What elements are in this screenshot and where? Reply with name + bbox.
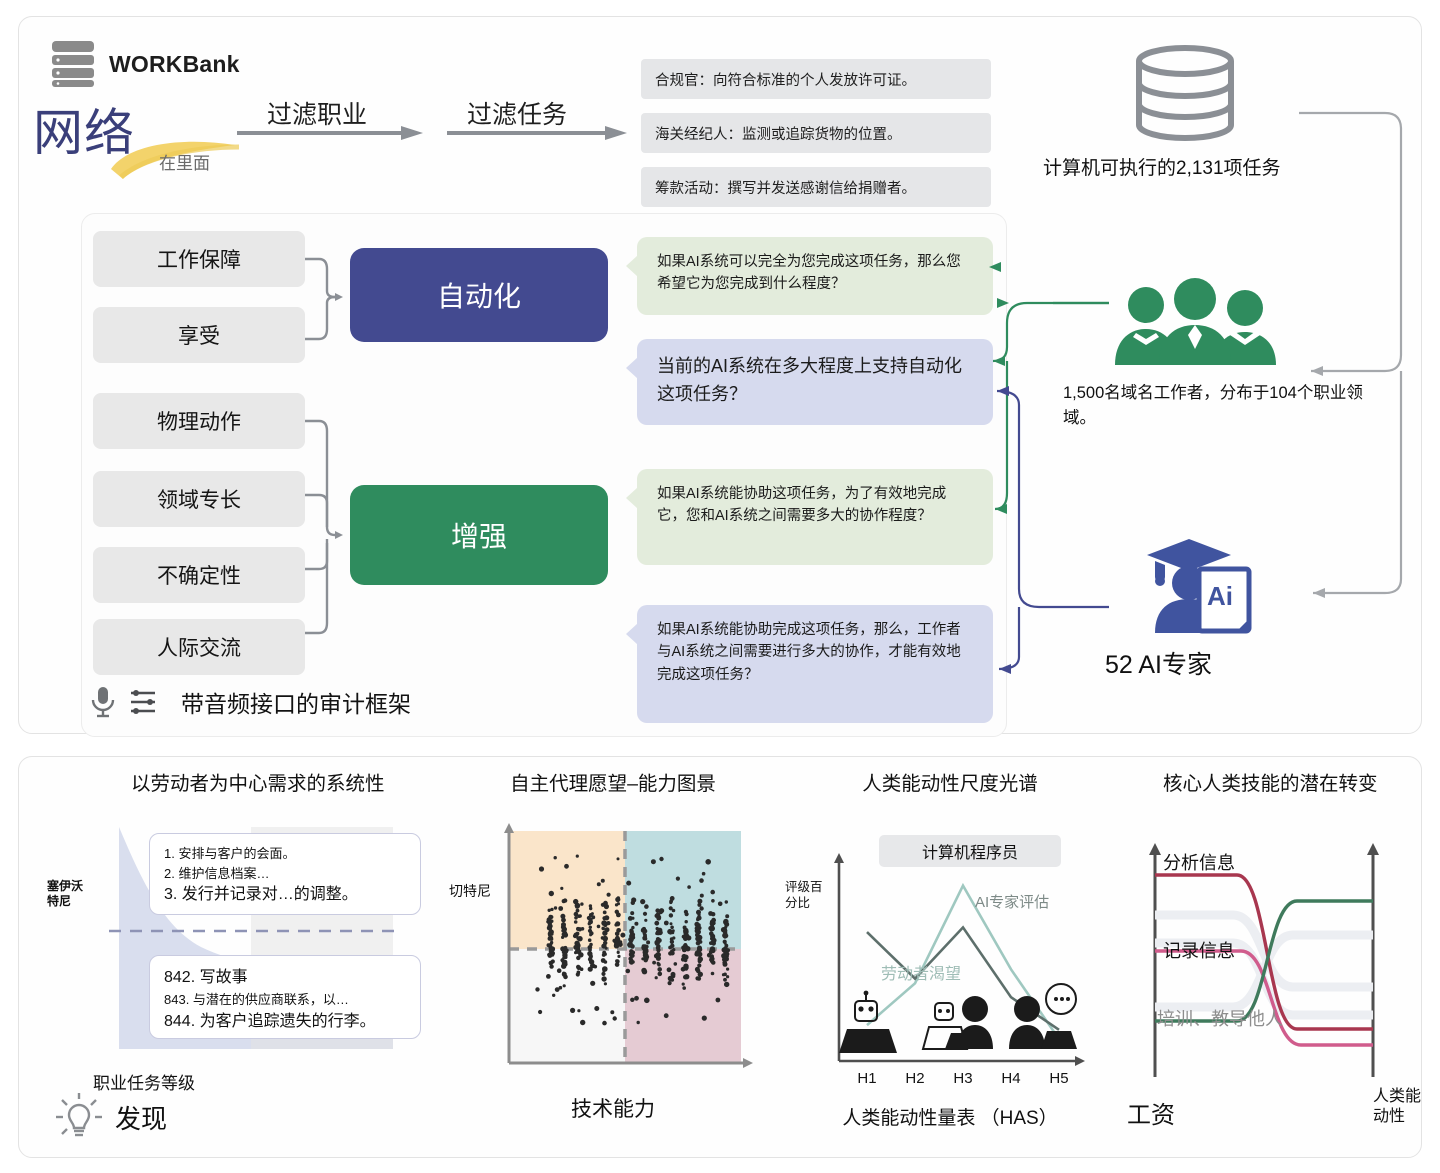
app-title: WORKBank [109,51,240,78]
task-line: 842. 写故事 [164,966,406,990]
has-line-chart: H1 H2 H3 H4 H5 AI专家评估 劳动者渴望 [823,853,1101,1095]
chart-title: 人类能动性尺度光谱 [785,771,1115,798]
sliders-icon [129,687,159,717]
chart-human-agency-scale: 人类能动性尺度光谱 评级百分比 计算机程序员 [785,757,1115,1151]
database-cylinder-icon [1131,45,1239,143]
task-list-bottom-card: 842. 写故事 843. 与潜在的供应商联系，以… 844. 为客户追踪遗失的… [149,955,421,1039]
category-box-augmentation: 增强 [350,485,608,585]
audio-framework-label: 带音频接口的审计框架 [181,685,411,719]
chart-title: 以劳动者为中心需求的系统性 [41,771,441,798]
x-tick: H2 [905,1070,924,1087]
scatter-plot [489,823,757,1081]
x-tick: H5 [1049,1070,1068,1087]
framework-panel: WORKBank 网络 在里面 过滤职业 过滤任务 合规官：向符合标准的个人发放… [18,16,1422,734]
x-tick: H4 [1001,1070,1020,1087]
chart-ylabel: 人类能动性 [1373,1087,1435,1127]
chart-ylabel: 切特尼 [449,883,493,901]
task-list-top-card: 1. 安排与客户的会面。 2. 维护信息档案… 3. 发行并记录对…的调整。 [149,833,421,915]
series-label-ai-expert: AI专家评估 [975,894,1049,911]
x-tick: H3 [953,1070,972,1087]
task-example-chip: 筹款活动：撰写并发送感谢信给捐赠者。 [641,167,991,207]
chart-systematic-desire: 以劳动者为中心需求的系统性 塞伊沃特尼 1. 安排与客户的会面。 2. 维护信息… [41,757,441,1151]
dimension-chip-expertise: 领域专长 [93,471,305,527]
ai-graduate-icon: Ai [1137,533,1255,643]
audio-framework-row: 带音频接口的审计框架 [89,685,411,719]
skill-label-record: 记录信息 [1163,937,1235,963]
dimension-chip-job-security: 工作保障 [93,231,305,287]
question-bubble-automation-capability: 当前的AI系统在多大程度上支持自动化这项任务？ [637,339,993,425]
task-example-chip: 海关经纪人：监测或追踪货物的位置。 [641,113,991,153]
microphone-icon [89,685,117,719]
lightbulb-icon [53,1091,105,1143]
dimension-chip-uncertainty: 不确定性 [93,547,305,603]
chart-xlabel: 工资 [1127,1095,1175,1130]
skill-label-analyze: 分析信息 [1163,849,1235,875]
task-line: 2. 维护信息档案… [164,864,406,884]
findings-panel: 以劳动者为中心需求的系统性 塞伊沃特尼 1. 安排与客户的会面。 2. 维护信息… [18,756,1422,1158]
three-workers-icon [1109,279,1281,367]
chart-skill-shift: 核心人类技能的潜在转变 分析信息 [1117,757,1440,1151]
dimension-chip-interpersonal: 人际交流 [93,619,305,675]
feedback-loop-connector [1289,97,1419,597]
findings-row: 发现 [53,1091,167,1143]
dimension-chip-physical: 物理动作 [93,393,305,449]
chart-ylabel: 塞伊沃特尼 [47,879,93,909]
flow-arrow-2 [447,125,627,141]
task-line: 1. 安排与客户的会面。 [164,844,406,864]
chart-title: 核心人类技能的潜在转变 [1117,771,1440,798]
question-bubble-augmentation-capability: 如果AI系统能协助完成这项任务，那么，工作者与AI系统之间需要进行多大的协作，才… [637,605,993,723]
chart-desire-capability: 自主代理愿望–能力图景 切特尼 技术能力 [443,757,783,1151]
chart-title: 自主代理愿望–能力图景 [443,771,783,798]
skill-shift-curves [1141,839,1403,1089]
chart-xlabel: 人类能动性量表 （HAS） [785,1103,1115,1130]
svg-text:Ai: Ai [1207,581,1233,611]
task-line: 844. 为客户追踪遗失的行李。 [164,1010,406,1034]
question-bubble-automation-desire: 如果AI系统可以完全为您完成这项任务，那么您希望它为您完成到什么程度？ [637,237,993,315]
task-line: 3. 发行并记录对…的调整。 [164,883,406,907]
skill-label-train: 培训、教导他人 [1157,1005,1283,1031]
inside-word: 在里面 [159,149,210,174]
bubble-to-source-connectors [993,257,1113,677]
flow-arrow-1 [237,125,423,141]
dimension-chip-enjoyment: 享受 [93,307,305,363]
task-example-chip: 合规官：向符合标准的个人发放许可证。 [641,59,991,99]
experts-caption: 52 AI专家 [1105,645,1212,681]
findings-label: 发现 [115,1099,167,1136]
infographic-page: WORKBank 网络 在里面 过滤职业 过滤任务 合规官：向符合标准的个人发放… [0,0,1440,1173]
x-tick: H1 [857,1070,876,1087]
question-bubble-augmentation-desire: 如果AI系统能协助这项任务，为了有效地完成它，您和AI系统之间需要多大的协作程度… [637,469,993,565]
database-stack-icon [49,39,97,89]
series-label-worker-desire: 劳动者渴望 [881,965,961,983]
task-line: 843. 与潜在的供应商联系，以… [164,990,406,1010]
chart-xlabel: 技术能力 [443,1093,783,1123]
category-box-automation: 自动化 [350,248,608,342]
